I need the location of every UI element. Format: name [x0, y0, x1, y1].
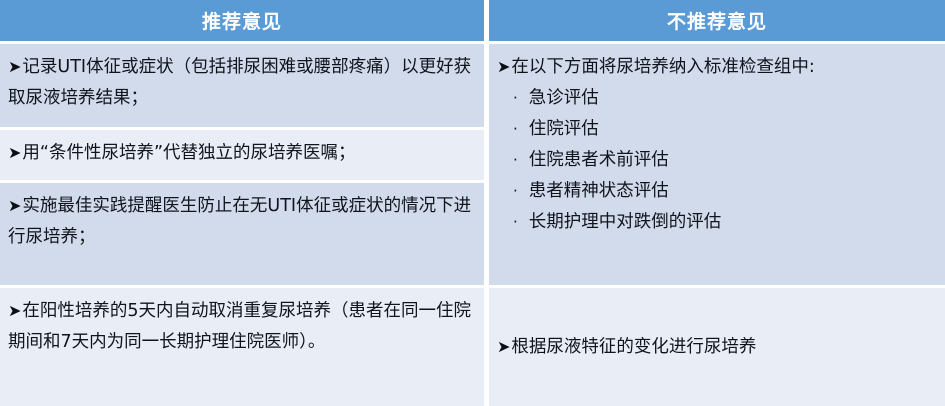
- table-row: ➤记录UTI体征或症状（包括排尿困难或腰部疼痛）以更好获取尿液培养结果；: [0, 44, 484, 127]
- column-header-not-recommended: 不推荐意见: [489, 0, 945, 41]
- not-recommended-item-1-text: 在以下方面将尿培养纳入标准检查组中:: [511, 57, 814, 77]
- list-item-label: 急诊评估: [529, 83, 935, 114]
- recommendation-item-2-text: 用“条件性尿培养”代替独立的尿培养医嘱；: [22, 143, 355, 163]
- dot-bullet-icon: ·: [513, 83, 529, 114]
- table-row: ➤用“条件性尿培养”代替独立的尿培养医嘱；: [0, 127, 484, 180]
- dot-bullet-icon: ·: [513, 207, 529, 238]
- table-row: ➤在以下方面将尿培养纳入标准检查组中: · 急诊评估 · 住院评估 · 住院患者…: [489, 44, 945, 285]
- table-header-row: 推荐意见 不推荐意见: [0, 0, 945, 41]
- arrow-bullet-icon: ➤: [8, 196, 22, 215]
- recommendation-item-1-text: 记录UTI体征或症状（包括排尿困难或腰部疼痛）以更好获取尿液培养结果；: [8, 57, 471, 108]
- arrow-bullet-icon: ➤: [8, 301, 22, 320]
- recommendation-item-2: ➤用“条件性尿培养”代替独立的尿培养医嘱；: [8, 137, 474, 169]
- recommended-column: ➤记录UTI体征或症状（包括排尿困难或腰部疼痛）以更好获取尿液培养结果； ➤用“…: [0, 44, 484, 406]
- list-item: · 长期护理中对跌倒的评估: [497, 207, 935, 238]
- dot-bullet-icon: ·: [513, 145, 529, 176]
- not-recommended-sub-list: · 急诊评估 · 住院评估 · 住院患者术前评估 · 患者精神状态评估: [497, 83, 935, 238]
- list-item: · 住院患者术前评估: [497, 145, 935, 176]
- list-item: · 住院评估: [497, 114, 935, 145]
- not-recommended-item-2-text: 根据尿液特征的变化进行尿培养: [511, 337, 756, 357]
- not-recommended-item-2: ➤根据尿液特征的变化进行尿培养: [497, 331, 756, 363]
- list-item-label: 住院患者术前评估: [529, 145, 935, 176]
- not-recommended-column: ➤在以下方面将尿培养纳入标准检查组中: · 急诊评估 · 住院评估 · 住院患者…: [489, 44, 945, 406]
- list-item-label: 住院评估: [529, 114, 935, 145]
- recommendation-item-4-text: 在阳性培养的5天内自动取消重复尿培养（患者在同一住院期间和7天内为同一长期护理住…: [8, 301, 471, 352]
- list-item: · 患者精神状态评估: [497, 176, 935, 207]
- column-header-recommended: 推荐意见: [0, 0, 484, 41]
- table-body: ➤记录UTI体征或症状（包括排尿困难或腰部疼痛）以更好获取尿液培养结果； ➤用“…: [0, 44, 945, 406]
- dot-bullet-icon: ·: [513, 176, 529, 207]
- recommendation-item-3: ➤实施最佳实践提醒医生防止在无UTI体征或症状的情况下进行尿培养；: [8, 190, 474, 253]
- list-item-label: 长期护理中对跌倒的评估: [529, 207, 935, 238]
- arrow-bullet-icon: ➤: [497, 337, 511, 356]
- not-recommended-item-1: ➤在以下方面将尿培养纳入标准检查组中:: [497, 51, 935, 83]
- arrow-bullet-icon: ➤: [8, 143, 22, 162]
- arrow-bullet-icon: ➤: [497, 57, 511, 76]
- recommendation-item-3-text: 实施最佳实践提醒医生防止在无UTI体征或症状的情况下进行尿培养；: [8, 196, 471, 247]
- list-item-label: 患者精神状态评估: [529, 176, 935, 207]
- dot-bullet-icon: ·: [513, 114, 529, 145]
- table-row: ➤根据尿液特征的变化进行尿培养: [489, 285, 945, 406]
- table-row: ➤在阳性培养的5天内自动取消重复尿培养（患者在同一住院期间和7天内为同一长期护理…: [0, 285, 484, 406]
- arrow-bullet-icon: ➤: [8, 57, 22, 76]
- recommendations-table: 推荐意见 不推荐意见 ➤记录UTI体征或症状（包括排尿困难或腰部疼痛）以更好获取…: [0, 0, 945, 406]
- table-row: ➤实施最佳实践提醒医生防止在无UTI体征或症状的情况下进行尿培养；: [0, 180, 484, 285]
- recommendation-item-4: ➤在阳性培养的5天内自动取消重复尿培养（患者在同一住院期间和7天内为同一长期护理…: [8, 295, 474, 358]
- recommendation-item-1: ➤记录UTI体征或症状（包括排尿困难或腰部疼痛）以更好获取尿液培养结果；: [8, 51, 474, 114]
- list-item: · 急诊评估: [497, 83, 935, 114]
